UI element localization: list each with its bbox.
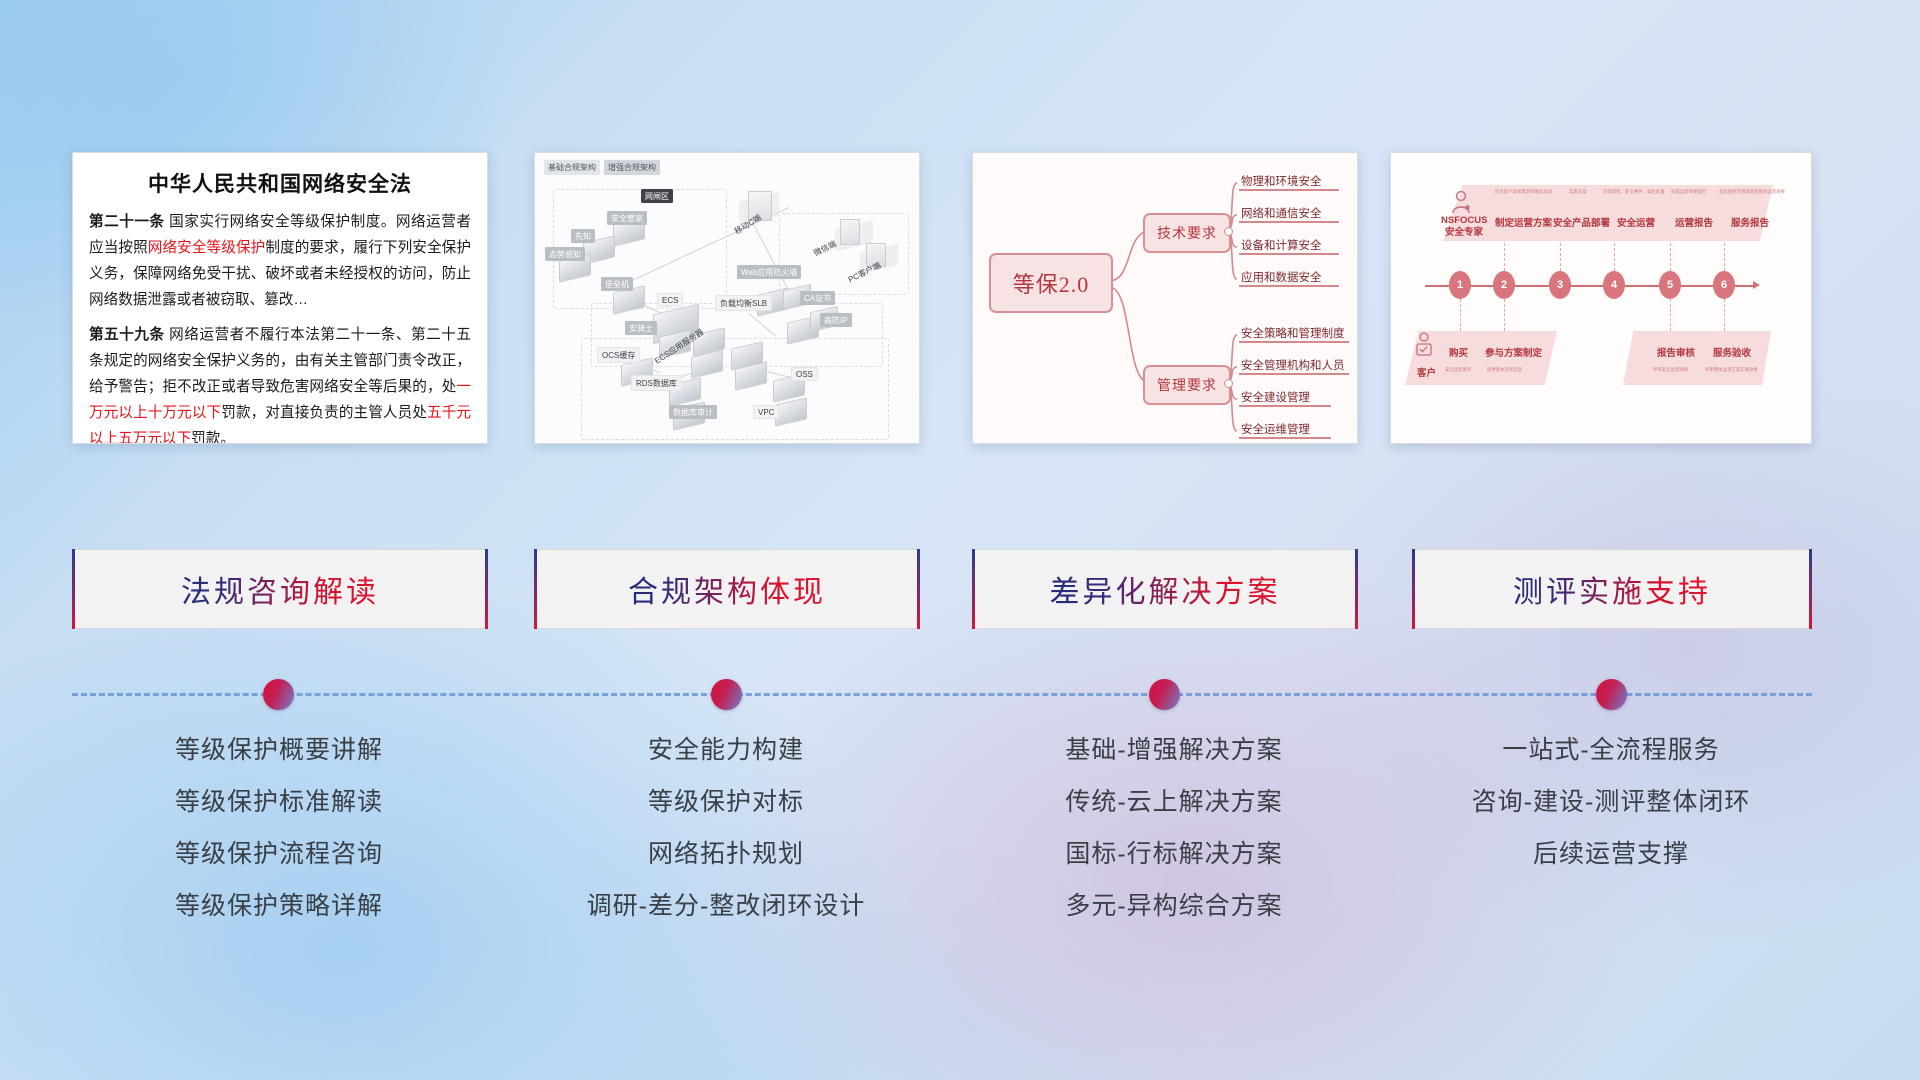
node-ecs: ECS — [657, 293, 683, 307]
node-bastion-host: 堡垒机 — [601, 277, 633, 291]
customer-step-1-sub: 安全运营服务 — [1445, 367, 1471, 373]
list-item: 传统-云上解决方案 — [962, 790, 1386, 815]
section-title-plate-3[interactable]: 差异化解决方案 — [972, 549, 1358, 629]
mindmap-leaf-ops: 安全运维管理 — [1241, 421, 1310, 437]
law-text-card: 中华人民共和国网络安全法 第二十一条 国家实行网络安全等级保护制度。网络运营者应… — [72, 152, 488, 444]
mindmap-root-node: 等保2.0 — [989, 253, 1113, 313]
mindmap-leaf-physical: 物理和环境安全 — [1241, 173, 1322, 189]
cloud-architecture-card: 基础合规架构 增强合规架构 — [534, 152, 920, 444]
section-list-3: 基础-增强解决方案 传统-云上解决方案 国标-行标解决方案 多元-异构综合方案 — [962, 738, 1386, 946]
process-step-number-3: 3 — [1549, 271, 1571, 299]
node-vpc: VPC — [753, 405, 779, 419]
mindmap-underline-1-0 — [1239, 341, 1349, 343]
expert-step-1-sub: 结合客户现状需求明确出具具 — [1495, 189, 1552, 195]
tab-basic-compliance[interactable]: 基础合规架构 — [544, 160, 600, 175]
list-item: 多元-异构综合方案 — [962, 894, 1386, 919]
tab-enhanced-compliance[interactable]: 增强合规架构 — [604, 160, 660, 175]
node-security-steward: 安全管家 — [607, 211, 647, 225]
node-slb: 负载均衡SLB — [715, 295, 772, 311]
mindmap-underline-1-1 — [1239, 373, 1349, 375]
tick-2-down — [1504, 299, 1506, 331]
icon-wechat-client — [840, 219, 860, 245]
tick-2 — [1504, 243, 1506, 271]
list-item: 基础-增强解决方案 — [962, 738, 1386, 763]
node-anqishi: 安骑士 — [625, 321, 657, 335]
mindmap-branch-management: 管理要求 — [1143, 365, 1231, 405]
node-situation-awareness: 态势感知 — [545, 247, 585, 261]
tick-3 — [1560, 243, 1562, 271]
expert-avatar-icon — [1449, 189, 1475, 215]
list-item: 等级保护流程咨询 — [72, 842, 486, 867]
list-item: 等级保护对标 — [514, 790, 938, 815]
law-paragraph-21: 第二十一条 国家实行网络安全等级保护制度。网络运营者应当按照网络安全等级保护制度… — [89, 210, 471, 314]
section-list-4: 一站式-全流程服务 咨询-建设-测评整体闭环 后续运营支撑 — [1392, 738, 1830, 894]
customer-step-2-sub: 提供基本现状信息 — [1487, 367, 1522, 373]
process-axis — [1425, 285, 1755, 287]
mindmap-underline-1-3 — [1239, 437, 1331, 439]
mindmap-leaf-application: 应用和数据安全 — [1241, 269, 1322, 285]
law-title: 中华人民共和国网络安全法 — [89, 173, 471, 196]
node-db-audit: 数据库审计 — [669, 405, 717, 419]
expert-step-3-sub: 日常巡检、安全事件、高危处置 — [1603, 189, 1664, 195]
mindmap-leaf-device: 设备和计算安全 — [1241, 237, 1322, 253]
law-text-body: 中华人民共和国网络安全法 第二十一条 国家实行网络安全等级保护制度。网络运营者应… — [73, 153, 487, 443]
section-title-2: 合规架构体现 — [628, 567, 826, 611]
list-item: 后续运营支撑 — [1392, 842, 1830, 867]
customer-avatar-icon — [1413, 331, 1437, 361]
customer-step-2-label: 参与方案制定 — [1485, 345, 1542, 359]
node-gateway-zone: 网闸区 — [641, 189, 673, 203]
list-item: 调研-差分-整改闭环设计 — [514, 894, 938, 919]
service-process-diagram: NSFOCUS安全专家 结合客户现状需求明确出具具 制定运营方案 实施方案 安全… — [1391, 153, 1811, 443]
timeline-marker-4[interactable] — [1596, 679, 1627, 710]
node-anti-ddos-ip: 高防IP — [820, 313, 852, 327]
section-title-1: 法规咨询解读 — [181, 567, 379, 611]
mindmap-underline-0-2 — [1239, 253, 1339, 255]
mindmap-diagram: 等保2.0 技术要求 物理和环境安全 网络和通信安全 设备和计算安全 应用和数据… — [973, 153, 1357, 443]
mindmap-collapse-dot-management[interactable] — [1224, 379, 1233, 388]
mindmap-underline-1-2 — [1239, 405, 1331, 407]
process-step-number-4: 4 — [1603, 271, 1625, 299]
expert-step-2-label: 安全产品部署 — [1553, 215, 1610, 229]
process-step-number-5: 5 — [1659, 271, 1681, 299]
customer-step-4-label: 服务验收 — [1713, 345, 1751, 359]
list-item: 网络拓扑规划 — [514, 842, 938, 867]
law-59-run-4: 罚款。 — [191, 431, 235, 444]
list-item: 安全能力构建 — [514, 738, 938, 763]
customer-role-label: 客户 — [1417, 365, 1436, 379]
tick-6-down — [1724, 299, 1726, 331]
list-item: 咨询-建设-测评整体闭环 — [1392, 790, 1830, 815]
customer-step-3-label: 报告审核 — [1657, 345, 1695, 359]
section-list-1: 等级保护概要讲解 等级保护标准解读 等级保护流程咨询 等级保护策略详解 — [72, 738, 486, 946]
section-title-4: 测评实施支持 — [1513, 567, 1711, 611]
section-title-plate-2[interactable]: 合规架构体现 — [534, 549, 920, 629]
timeline-marker-2[interactable] — [711, 679, 742, 710]
law-paragraph-59: 第五十九条 网络运营者不履行本法第二十一条、第二十五条规定的网络安全保护义务的，… — [89, 323, 471, 444]
expert-step-2-sub: 实施方案 — [1569, 189, 1587, 195]
node-waf: Web应用防火墙 — [737, 265, 801, 279]
mindmap-leaf-build: 安全建设管理 — [1241, 389, 1310, 405]
process-axis-arrow — [1753, 281, 1760, 289]
list-item: 等级保护概要讲解 — [72, 738, 486, 763]
timeline-dashed-line — [72, 693, 1812, 696]
list-item: 国标-行标解决方案 — [962, 842, 1386, 867]
law-21-run-1-highlight: 网络安全等级保护 — [148, 240, 266, 256]
mindmap-leaf-policy: 安全策略和管理制度 — [1241, 325, 1345, 341]
tick-4 — [1614, 243, 1616, 271]
node-oss: OSS — [791, 367, 818, 381]
node-ocs-cache: OCS缓存 — [597, 347, 640, 363]
node-xianzhi: 先知 — [571, 229, 595, 243]
section-list-2: 安全能力构建 等级保护对标 网络拓扑规划 调研-差分-整改闭环设计 — [514, 738, 938, 946]
customer-step-3-sub: 评审安全运营效果 — [1653, 367, 1688, 373]
service-process-card: NSFOCUS安全专家 结合客户现状需求明确出具具 制定运营方案 实施方案 安全… — [1390, 152, 1812, 444]
expert-step-4-sub: 形成运营效果报告 — [1671, 189, 1706, 195]
timeline-marker-1[interactable] — [263, 679, 294, 710]
node-rds-db: RDS数据库 — [631, 375, 682, 391]
law-59-run-2: 罚款，对直接负责的主管人员处 — [221, 405, 427, 421]
mindmap-card: 等保2.0 技术要求 物理和环境安全 网络和通信安全 设备和计算安全 应用和数据… — [972, 152, 1358, 444]
cloud-architecture-diagram: 基础合规架构 增强合规架构 — [535, 153, 919, 443]
mindmap-branch-technical: 技术要求 — [1143, 213, 1231, 253]
mindmap-collapse-dot-technical[interactable] — [1224, 227, 1233, 236]
expert-step-4-label: 运营报告 — [1675, 215, 1713, 229]
mindmap-underline-0-0 — [1239, 189, 1339, 191]
law-article-21-lead: 第二十一条 — [89, 214, 165, 230]
section-title-3: 差异化解决方案 — [1050, 567, 1281, 611]
list-item: 等级保护策略详解 — [72, 894, 486, 919]
expert-step-1-label: 制定运营方案 — [1495, 215, 1552, 229]
node-ca-cert: CA证书 — [800, 291, 835, 305]
tick-5-down — [1670, 299, 1672, 331]
section-title-plate-1[interactable]: 法规咨询解读 — [72, 549, 488, 629]
expert-step-3-label: 安全运营 — [1617, 215, 1655, 229]
mindmap-leaf-org: 安全管理机构和人员 — [1241, 357, 1345, 373]
expert-role-label: NSFOCUS安全专家 — [1441, 215, 1487, 239]
mindmap-underline-0-3 — [1239, 285, 1339, 287]
law-article-59-lead: 第五十九条 — [89, 327, 165, 343]
list-item: 一站式-全流程服务 — [1392, 738, 1830, 763]
process-step-number-6: 6 — [1713, 271, 1735, 299]
process-step-number-2: 2 — [1493, 271, 1515, 299]
customer-step-1-label: 购买 — [1449, 345, 1468, 359]
expert-step-5-sub: 总结服务范围落地及整体运营效果 — [1719, 189, 1785, 195]
section-title-plate-4[interactable]: 测评实施支持 — [1412, 549, 1812, 629]
process-step-number-1: 1 — [1449, 271, 1471, 299]
list-item: 等级保护标准解读 — [72, 790, 486, 815]
tick-5 — [1670, 243, 1672, 271]
mindmap-leaf-network: 网络和通信安全 — [1241, 205, 1322, 221]
mindmap-underline-0-1 — [1239, 221, 1339, 223]
tick-1-down — [1460, 299, 1462, 331]
expert-step-5-label: 服务报告 — [1731, 215, 1769, 229]
tick-6 — [1724, 243, 1726, 271]
timeline-marker-3[interactable] — [1149, 679, 1180, 710]
architecture-tabs: 基础合规架构 增强合规架构 — [544, 160, 660, 175]
customer-step-4-sub: 评审整体运营方案实施效果 — [1705, 367, 1758, 373]
